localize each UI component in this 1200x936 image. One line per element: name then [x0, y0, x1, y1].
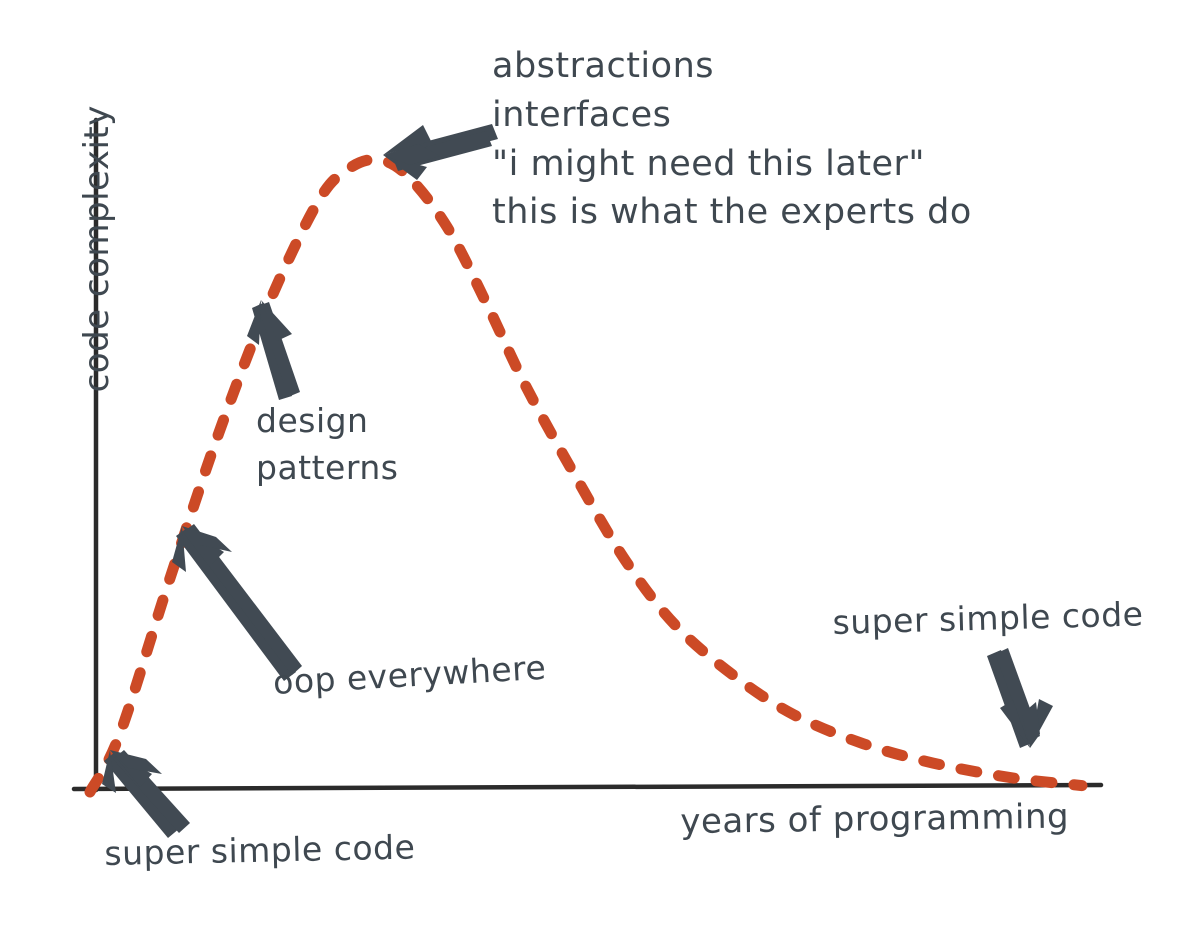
- y-axis-label: code complexity: [76, 89, 120, 409]
- arrow-to-origin-icon: [102, 750, 190, 838]
- arrow-to-tail-icon: [987, 648, 1053, 748]
- chart-canvas: code complexity years of programming abs…: [0, 0, 1200, 936]
- complexity-curve: [90, 159, 1082, 792]
- arrow-to-upslope-lower-icon: [172, 524, 302, 681]
- peak-annotation: abstractions interfaces "i might need th…: [492, 44, 972, 239]
- peak-annotation-line-3: "i might need this later": [492, 142, 972, 187]
- peak-annotation-line-1: abstractions: [492, 44, 972, 89]
- design-patterns-line-2: patterns: [256, 445, 398, 492]
- design-patterns-annotation: design patterns: [256, 398, 398, 492]
- super-simple-code-right-annotation: super simple code: [832, 593, 1144, 644]
- super-simple-code-left-annotation: super simple code: [104, 826, 416, 875]
- x-axis-label: years of programming: [680, 796, 1069, 845]
- x-axis-line: [74, 785, 1101, 789]
- peak-annotation-line-2: interfaces: [492, 93, 972, 138]
- design-patterns-line-1: design: [256, 398, 398, 445]
- peak-annotation-line-4: this is what the experts do: [492, 190, 972, 235]
